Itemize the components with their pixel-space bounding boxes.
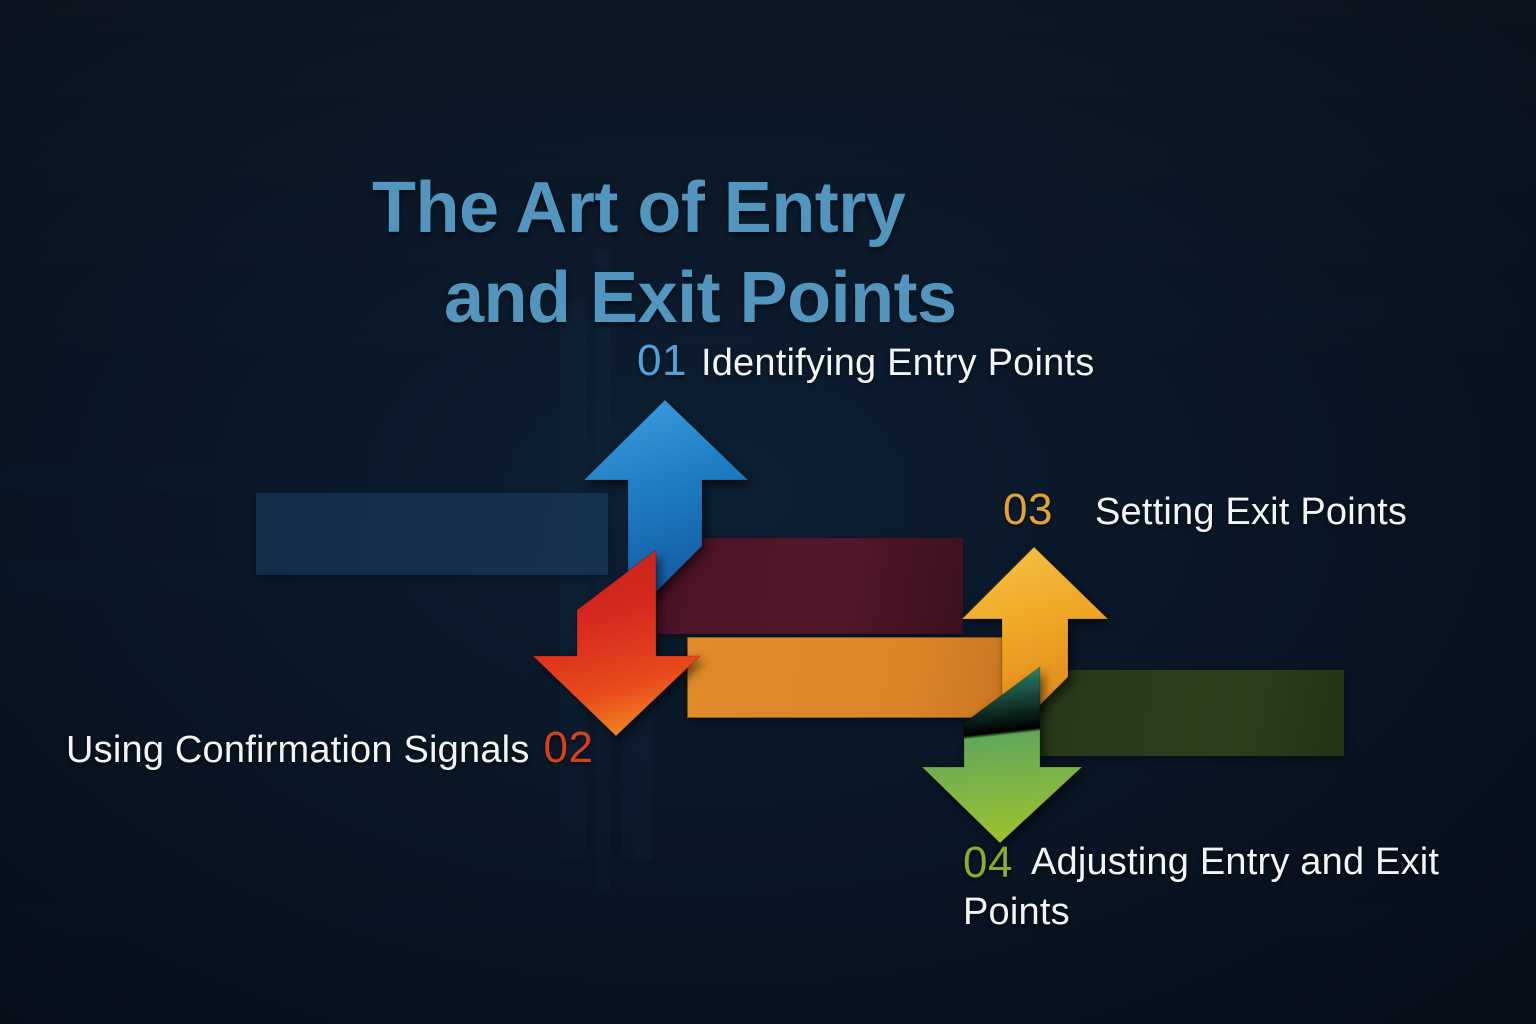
step-number-04: 04 — [963, 838, 1013, 887]
step-text-03: Setting Exit Points — [1095, 491, 1407, 533]
step-number-03: 03 — [1003, 485, 1053, 534]
step-label-02: Using Confirmation Signals02 — [66, 723, 593, 773]
infographic-canvas: The Art of Entry and Exit Points — [0, 0, 1536, 1024]
step-label-03: 03Setting Exit Points — [1003, 485, 1407, 535]
step-label-01: 01Identifying Entry Points — [637, 336, 1094, 386]
step-label-04: 04Adjusting Entry and Exit Points — [963, 838, 1536, 936]
step-text-02: Using Confirmation Signals — [66, 729, 530, 771]
arrow-down-step-04 — [918, 665, 1088, 845]
step-number-01: 01 — [637, 336, 687, 385]
title-line-2: and Exit Points — [372, 253, 1192, 344]
title-line-1: The Art of Entry — [372, 168, 905, 248]
step-text-04: Adjusting Entry and Exit Points — [963, 841, 1439, 933]
arrow-down-step-02 — [528, 548, 708, 738]
step-text-01: Identifying Entry Points — [701, 342, 1094, 384]
step-number-02: 02 — [544, 723, 594, 772]
